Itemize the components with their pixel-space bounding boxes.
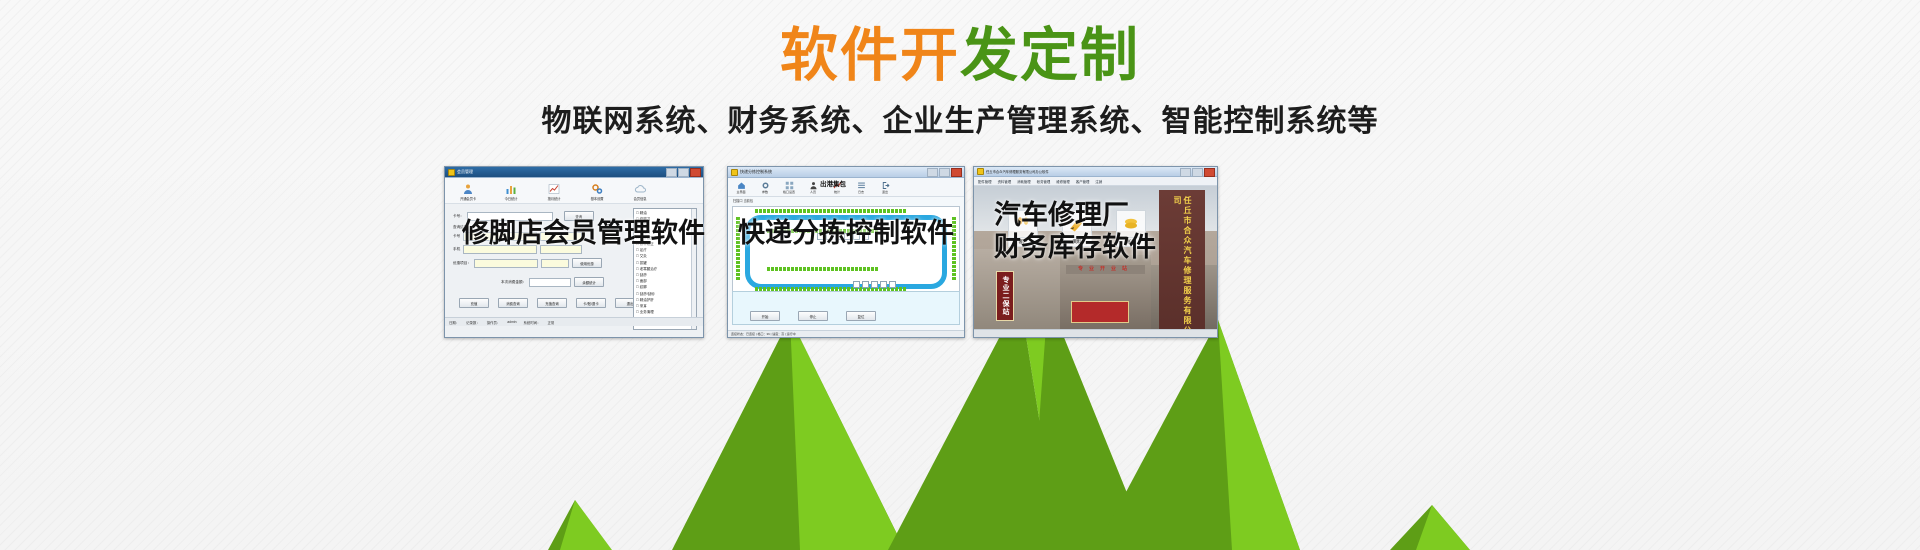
screenshot-gallery: 会员管理 开通会员卡 今日统计 [0, 166, 1920, 346]
toolbar[interactable]: 主界面 参数 格口设置 人员 统计 日志 [728, 178, 964, 197]
toolbar-label-1: 今日统计 [496, 196, 526, 201]
use-discount-button[interactable]: 使用优惠 [572, 258, 602, 268]
exit-icon [877, 181, 893, 190]
menu-item-consume[interactable]: 消耗管理 [1017, 179, 1031, 184]
gear-icon [757, 181, 773, 190]
toolbar-button-3[interactable]: 人员 [805, 181, 821, 194]
cloud-icon [625, 182, 655, 195]
recharge-button[interactable]: 充值 [459, 298, 489, 308]
toolbar-label-5: 日志 [853, 190, 869, 194]
menu-item-parts[interactable]: 配件管理 [978, 179, 992, 184]
toolbar[interactable]: 开通会员卡 今日统计 按月统计 基本设置 [445, 178, 703, 204]
start-button[interactable]: 开始 [750, 311, 780, 321]
stop-button[interactable]: 停止 [798, 311, 828, 321]
amount-input[interactable] [529, 278, 571, 287]
red-sign-text: 专业二保站 [1000, 276, 1010, 316]
status-item: admin [507, 320, 516, 324]
maximize-button[interactable] [1192, 168, 1203, 177]
maximize-button[interactable] [939, 168, 950, 177]
red-vertical-sign: 专业二保站 [996, 271, 1014, 321]
gate-banner-text: 专业开业站 [1066, 265, 1145, 274]
screenshot-card-sorting-software[interactable]: 快递分拣控制系统 主界面 参数 格口设置 人员 [727, 166, 965, 338]
bar-chart-icon [496, 182, 526, 195]
status-bar: 日期： 记录数： 操作员： admin 系统时间： 正常 [445, 317, 703, 326]
window-title-text: 会员管理 [457, 169, 473, 175]
app-icon [448, 169, 455, 176]
screenshot-card-member-software[interactable]: 会员管理 开通会员卡 今日统计 [444, 166, 704, 338]
close-button[interactable] [1204, 168, 1215, 177]
user-icon [805, 181, 821, 190]
toolbar-button-3[interactable]: 基本设置 [582, 182, 612, 201]
line-chart-icon [539, 182, 569, 195]
toolbar-button-6[interactable]: 退出 [877, 181, 893, 194]
company-pillar: 任丘市合众汽车修理服务有限公司 [1159, 190, 1205, 337]
field-label-discount: 优惠项目： [453, 261, 471, 266]
sub-label: 扫描口 当前包 [728, 197, 964, 204]
status-bar: 连接状态：已连接 | 格口：36 | 速度：高 | 运行中 [728, 330, 964, 337]
toolbar-label-3: 人员 [805, 190, 821, 194]
toolbar-label-0: 开通会员卡 [453, 196, 483, 201]
home-icon [733, 181, 749, 190]
menu-item-logout[interactable]: 注销 [1095, 179, 1102, 184]
company-vertical-sign: 任丘市合众汽车修理服务有限公司 [1172, 196, 1192, 337]
window-titlebar: 会员管理 [445, 167, 703, 178]
window-title-text: 快递分拣控制系统 [740, 169, 772, 175]
toolbar-label-3: 基本设置 [582, 196, 612, 201]
sorting-chute-row-top [755, 209, 906, 213]
toolbar-label-2: 按月统计 [539, 196, 569, 201]
toolbar-button-0[interactable]: 主界面 [733, 181, 749, 194]
toolbar-button-4[interactable]: 会员信息 [625, 182, 655, 201]
field-label-card: 卡号 [453, 234, 460, 239]
window-titlebar: 快递分拣控制系统 [728, 167, 964, 178]
status-item: 正常 [548, 320, 555, 325]
toolbar-button-1[interactable]: 今日统计 [496, 182, 526, 201]
page-title-orange: 软件开 [780, 21, 960, 89]
photo-red-banner [1071, 301, 1129, 323]
status-bar [974, 329, 1217, 337]
toolbar-button-2[interactable]: 按月统计 [539, 182, 569, 201]
gear-icon [582, 182, 612, 195]
maximize-button[interactable] [678, 168, 689, 177]
app-icon [731, 169, 738, 176]
bay-indicators-bottom [853, 281, 896, 288]
menu-item-data[interactable]: 资料管理 [998, 179, 1012, 184]
card-caption-1: 修脚店会员管理软件 [462, 218, 705, 250]
window-controls[interactable] [666, 168, 701, 177]
control-buttons[interactable]: 开始 停止 复位 [750, 311, 876, 321]
header: 软件开发定制 物联网系统、财务系统、企业生产管理系统、智能控制系统等 [0, 0, 1920, 140]
menu-item-customer[interactable]: 客户管理 [1076, 179, 1090, 184]
toolbar-label-0: 主界面 [733, 190, 749, 194]
close-button[interactable] [690, 168, 701, 177]
member-card-icon [453, 182, 483, 195]
card-account-button[interactable]: 卡/账/退卡 [576, 298, 606, 308]
card-caption-3-line2: 财务库存软件 [994, 232, 1156, 264]
menu-bar[interactable]: 配件管理 资料管理 消耗管理 帐务管理 维修管理 客户管理 注销 [974, 177, 1217, 186]
reset-button[interactable]: 复位 [846, 311, 876, 321]
toolbar-button-1[interactable]: 参数 [757, 181, 773, 194]
toolbar-label-6: 退出 [877, 190, 893, 194]
field-input-discount[interactable] [474, 259, 538, 268]
menu-item-maintenance[interactable]: 维修管理 [1056, 179, 1070, 184]
window-controls[interactable] [927, 168, 962, 177]
card-caption-3: 汽车修理厂 财务库存软件 [994, 200, 1156, 264]
toolbar-label-4: 会员信息 [625, 196, 655, 201]
field-input-discount-2[interactable] [541, 259, 569, 268]
minimize-button[interactable] [1180, 168, 1191, 177]
toolbar-label-2: 格口设置 [781, 190, 797, 194]
grid-icon [781, 181, 797, 190]
app-icon [977, 168, 984, 175]
page-title-green: 发定制 [960, 21, 1140, 89]
toolbar-button-2[interactable]: 格口设置 [781, 181, 797, 194]
status-item: 系统时间： [524, 320, 541, 325]
toolbar-label-4: 统计 [829, 190, 845, 194]
list-item[interactable]: 业务清理 [636, 309, 694, 315]
consume-query-button[interactable]: 消费查询 [498, 298, 528, 308]
card-caption-3-line1: 汽车修理厂 [994, 200, 1156, 232]
amount-label: 本次消费金额： [501, 280, 526, 285]
sorting-chute-row-inner-bottom [767, 267, 878, 271]
window-title-text: 任丘市合众汽车修理服务有限公司办公软件 [986, 169, 1049, 174]
list-icon [853, 181, 869, 190]
recharge-query-button[interactable]: 充值查询 [537, 298, 567, 308]
close-button[interactable] [951, 168, 962, 177]
minimize-button[interactable] [666, 168, 677, 177]
toolbar-button-5[interactable]: 日志 [853, 181, 869, 194]
card-caption-2: 快递分拣控制软件 [738, 218, 954, 250]
minimize-button[interactable] [927, 168, 938, 177]
window-controls[interactable] [1180, 168, 1215, 177]
page-subtitle: 物联网系统、财务系统、企业生产管理系统、智能控制系统等 [0, 84, 1920, 140]
status-item: 记录数： [466, 320, 480, 325]
page-title: 软件开发定制 [0, 0, 1920, 84]
menu-item-account[interactable]: 帐务管理 [1037, 179, 1051, 184]
status-item: 操作员： [487, 320, 501, 325]
toolbar-label-1: 参数 [757, 190, 773, 194]
section-header: 出港集包 [820, 178, 846, 188]
window-titlebar: 任丘市合众汽车修理服务有限公司办公软件 [974, 167, 1217, 177]
status-item: 日期： [449, 320, 459, 325]
photo-gate-banner: 专业开业站 [1066, 265, 1145, 274]
balance-total-button[interactable]: 余额统计 [574, 277, 604, 287]
toolbar-button-0[interactable]: 开通会员卡 [453, 182, 483, 201]
field-label-phone: 手机 [453, 247, 460, 252]
